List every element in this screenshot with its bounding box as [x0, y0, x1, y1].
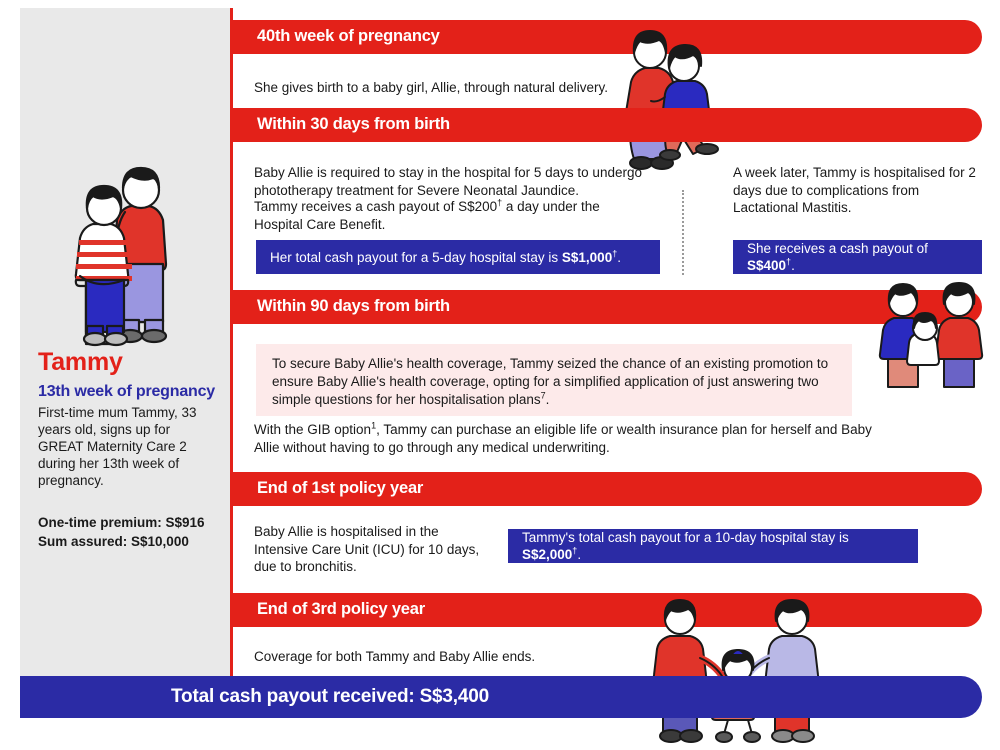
payout-box-30d-left: Her total cash payout for a 5-day hospit… — [256, 240, 660, 274]
section-heading-within-90-days: Within 90 days from birth — [233, 290, 982, 324]
profile-figures: One-time premium: S$916 Sum assured: S$1… — [38, 513, 228, 551]
highlight-box-90d: To secure Baby Allie's health coverage, … — [256, 344, 852, 416]
section-text-30d-left-2: Tammy receives a cash payout of S$200† a… — [254, 198, 624, 233]
section-heading-end-3rd-year: End of 3rd policy year — [233, 593, 982, 627]
section-text-week-40: She gives birth to a baby girl, Allie, t… — [254, 79, 654, 97]
profile-stage: 13th week of pregnancy — [38, 383, 228, 401]
profile-sidebar: Tammy 13th week of pregnancy First-time … — [20, 8, 230, 678]
section-text-end-3rd-year: Coverage for both Tammy and Baby Allie e… — [254, 648, 614, 666]
column-divider — [682, 190, 684, 275]
timeline: 40th week of pregnancy She gives birth t… — [230, 8, 982, 678]
section-text-30d-left-1: Baby Allie is required to stay in the ho… — [254, 164, 656, 199]
infographic-page: Tammy 13th week of pregnancy First-time … — [0, 0, 1000, 750]
profile-description: First-time mum Tammy, 33 years old, sign… — [38, 404, 213, 489]
family-of-three-illustration — [648, 598, 828, 743]
total-payout-banner: Total cash payout received: S$3,400 — [20, 676, 982, 718]
profile-name: Tammy — [38, 348, 218, 377]
sum-assured-label: Sum assured: S$10,000 — [38, 532, 228, 551]
section-text-90d: With the GIB option1, Tammy can purchase… — [254, 421, 874, 456]
section-heading-week-40: 40th week of pregnancy — [233, 20, 982, 54]
payout-box-end-1st-year: Tammy's total cash payout for a 10-day h… — [508, 529, 918, 563]
couple-expecting-illustration — [35, 148, 215, 348]
section-heading-within-30-days: Within 30 days from birth — [233, 108, 982, 142]
payout-rate-text: Tammy receives a cash payout of S$200 — [254, 199, 497, 214]
total-payout-label: Total cash payout received: S$3,400 — [20, 676, 640, 718]
premium-label: One-time premium: S$916 — [38, 513, 228, 532]
parents-holding-baby-illustration — [878, 278, 990, 390]
section-heading-end-1st-year: End of 1st policy year — [233, 472, 982, 506]
birth-delivery-illustration — [615, 23, 725, 178]
section-text-30d-right: A week later, Tammy is hospitalised for … — [733, 164, 985, 217]
payout-box-30d-right: She receives a cash payout of S$400†. — [733, 240, 982, 274]
section-text-end-1st-year: Baby Allie is hospitalised in the Intens… — [254, 523, 494, 576]
